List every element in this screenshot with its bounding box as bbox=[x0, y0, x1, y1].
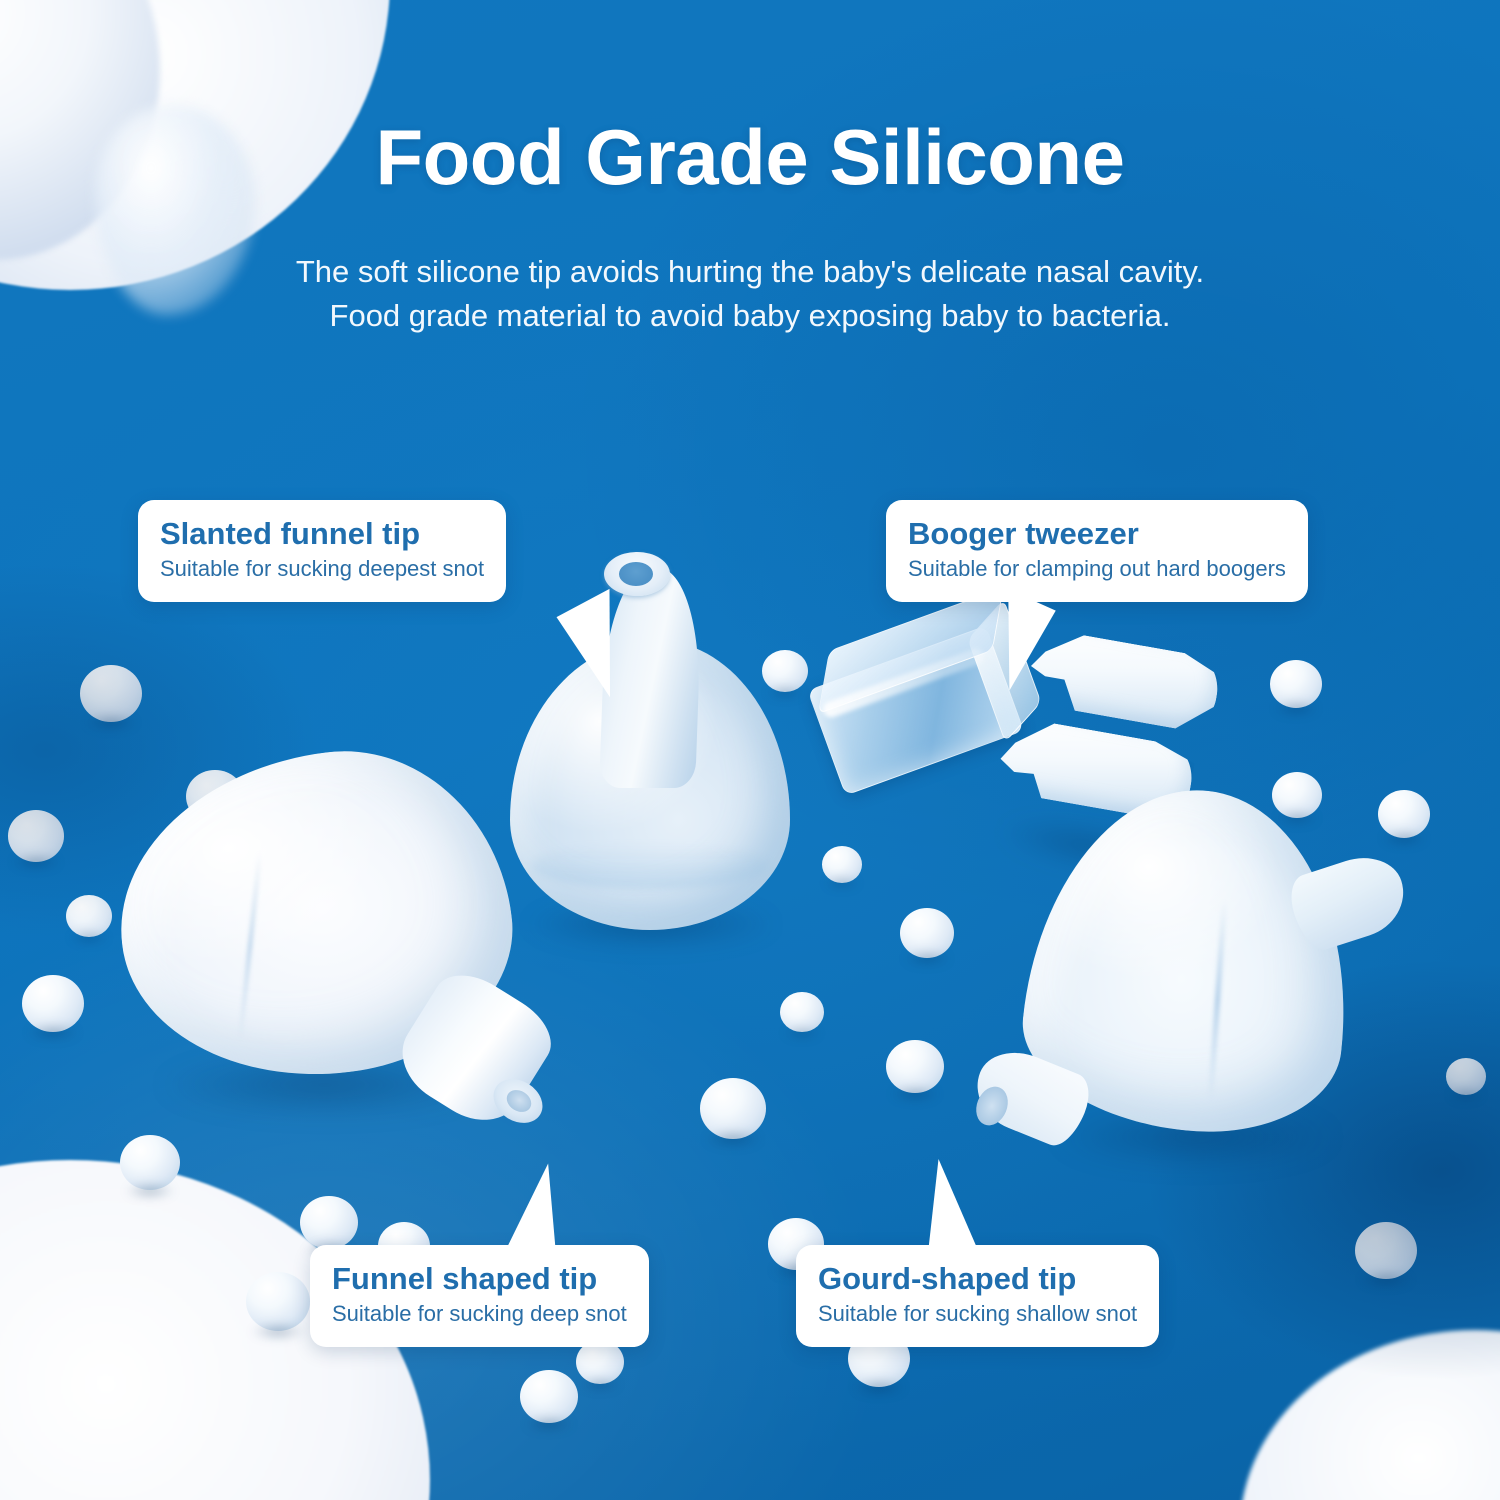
page-subtitle-line-1: The soft silicone tip avoids hurting the… bbox=[0, 250, 1500, 294]
callout-title: Gourd-shaped tip bbox=[818, 1261, 1137, 1297]
callout-subtitle: Suitable for sucking deepest snot bbox=[160, 555, 484, 584]
page-subtitle: The soft silicone tip avoids hurting the… bbox=[0, 250, 1500, 338]
callout-booger-tweezer[interactable]: Booger tweezer Suitable for clamping out… bbox=[886, 500, 1308, 602]
infographic-canvas: Food Grade Silicone The soft silicone ti… bbox=[0, 0, 1500, 1500]
callout-slanted-funnel-tip[interactable]: Slanted funnel tip Suitable for sucking … bbox=[138, 500, 506, 602]
callout-title: Funnel shaped tip bbox=[332, 1261, 627, 1297]
product-slanted-funnel-tip bbox=[500, 530, 800, 930]
callout-subtitle: Suitable for sucking shallow snot bbox=[818, 1300, 1137, 1329]
callout-subtitle: Suitable for clamping out hard boogers bbox=[908, 555, 1286, 584]
callout-funnel-shaped-tip[interactable]: Funnel shaped tip Suitable for sucking d… bbox=[310, 1245, 649, 1347]
page-subtitle-line-2: Food grade material to avoid baby exposi… bbox=[0, 294, 1500, 338]
page-title: Food Grade Silicone bbox=[0, 112, 1500, 203]
callout-subtitle: Suitable for sucking deep snot bbox=[332, 1300, 627, 1329]
callout-title: Booger tweezer bbox=[908, 516, 1286, 552]
slanted-hole bbox=[619, 562, 653, 586]
callout-gourd-shaped-tip[interactable]: Gourd-shaped tip Suitable for sucking sh… bbox=[796, 1245, 1159, 1347]
product-gourd-shaped-tip bbox=[975, 790, 1415, 1210]
callout-title: Slanted funnel tip bbox=[160, 516, 484, 552]
